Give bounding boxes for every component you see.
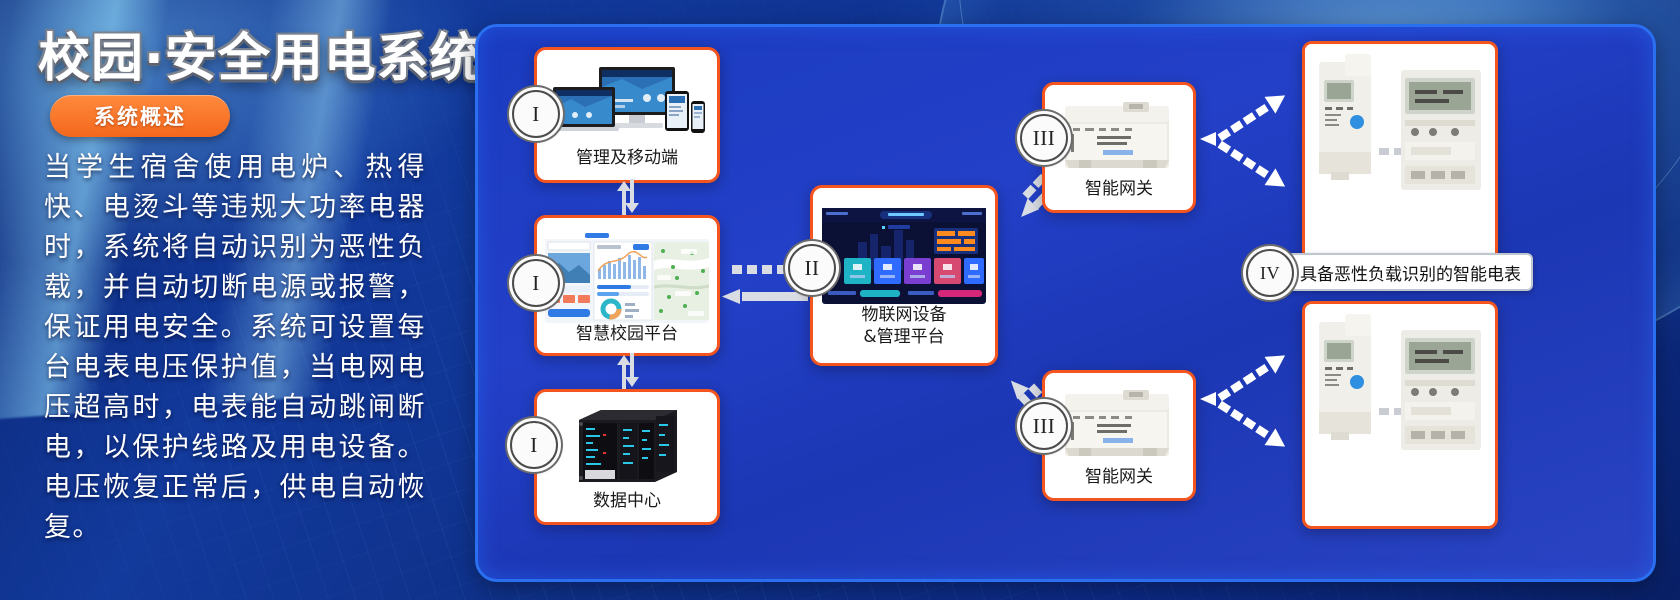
diagram-panel: 管理及移动端 I [475,24,1656,582]
description-text: 当学生宿舍使用电炉、热得快、电烫斗等违规大功率电器时，系统将自动识别为恶性负载，… [44,148,426,548]
badge-numeral-iot-platform: II [788,244,836,292]
meters-bottom-illustration [1305,304,1489,520]
meter-group-top[interactable] [1302,41,1498,269]
badge-numeral-text: IV [1260,263,1280,284]
smart-gateway-icon [1057,98,1181,178]
badge-numeral-text: III [1033,126,1055,151]
badge-numeral-text: II [805,256,820,281]
node-iot-platform[interactable]: 物联网设备 &管理平台 [810,185,998,366]
badge-numeral-gateway-top: III [1020,114,1068,162]
badge-numeral-meters: IV [1246,249,1294,297]
badge-numeral-data-center: I [510,421,558,469]
campus-dashboard-illustration [545,231,709,323]
node-smart-campus[interactable]: 智慧校园平台 [534,215,720,356]
iot-dashboard-icon [822,208,986,304]
monitor-icon [547,65,707,147]
badge-numeral-text: III [1033,414,1055,439]
node-smart-campus-caption: 智慧校园平台 [576,323,678,345]
gateway-device-illustration-top [1057,98,1181,178]
devices-illustration [547,65,707,147]
meters-top-illustration [1305,44,1489,260]
page-title: 校园·安全用电系统 [38,16,458,91]
section-badge-label: 系统概述 [94,101,186,131]
badge-numeral-text: I [532,271,540,296]
iot-dashboard-illustration [822,208,986,304]
smart-gateway-icon [1057,386,1181,466]
meter-label-iv: 具备恶性负载识别的智能电表 [1268,253,1533,291]
node-gateway-bottom-caption: 智能网关 [1085,466,1153,488]
server-rack-icon [567,404,687,490]
badge-numeral-text: I [530,433,538,458]
node-iot-platform-caption-line1: 物联网设备 [862,304,947,326]
dashboard-map-icon [545,231,709,323]
server-illustration [567,404,687,490]
section-badge: 系统概述 [50,95,230,137]
node-admin-mobile-caption: 管理及移动端 [576,147,678,169]
badge-numeral-smart-campus: I [512,259,560,307]
gateway-device-illustration-bottom [1057,386,1181,466]
badge-numeral-admin-mobile: I [512,90,560,138]
left-text-column: 校园·安全用电系统 系统概述 当学生宿舍使用电炉、热得快、电烫斗等违规大功率电器… [0,0,470,600]
node-data-center[interactable]: 数据中心 [534,389,720,525]
node-admin-mobile[interactable]: 管理及移动端 [534,47,720,183]
badge-numeral-gateway-bottom: III [1020,402,1068,450]
node-data-center-caption: 数据中心 [593,490,661,512]
badge-numeral-text: I [532,102,540,127]
connector-admin-to-campus [615,179,641,215]
poster-root: 校园·安全用电系统 系统概述 当学生宿舍使用电炉、热得快、电烫斗等违规大功率电器… [0,0,1680,600]
connector-gateway-top-to-meters [1194,85,1308,205]
connector-campus-to-datacenter [615,353,641,389]
meter-group-bottom[interactable] [1302,301,1498,529]
node-gateway-top-caption: 智能网关 [1085,178,1153,200]
meter-label-text: 具备恶性负载识别的智能电表 [1300,260,1521,285]
node-iot-platform-caption-line2: &管理平台 [863,326,944,348]
connector-gateway-bottom-to-meters [1194,345,1308,465]
